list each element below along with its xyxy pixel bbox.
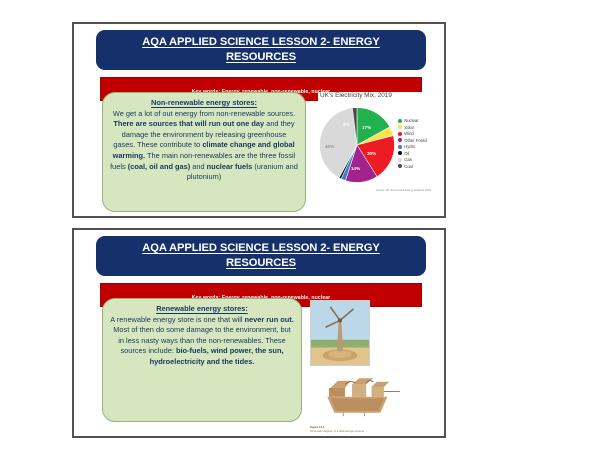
slide-1-body-heading: Non-renewable energy stores: (151, 98, 257, 107)
slide-1[interactable]: AQA APPLIED SCIENCE LESSON 2- ENERGY RES… (72, 22, 446, 218)
pie-chart: 17%20%14%2%40% (318, 106, 396, 184)
legend-label: Other Fossil (404, 138, 427, 143)
tidal-barrage-image (310, 372, 410, 418)
slide-2-content: AQA APPLIED SCIENCE LESSON 2- ENERGY RES… (74, 230, 444, 436)
slide-2-body-heading: Renewable energy stores: (156, 304, 248, 313)
slide-2-title-line-2: RESOURCES (102, 256, 420, 271)
wind-turbine-photo (310, 300, 370, 366)
electricity-mix-chart: UK's Electricity Mix, 2019 17%20%14%2%40… (318, 92, 442, 204)
slide-2-body-runs: A renewable energy store is one that wil… (110, 315, 294, 366)
slide-2[interactable]: AQA APPLIED SCIENCE LESSON 2- ENERGY RES… (72, 228, 446, 438)
tidal-barrage-diagram: Figure 14.4 Schematic diagram of a tidal… (304, 372, 414, 434)
wind-turbine-image (311, 301, 369, 365)
legend-label: Wind (404, 131, 414, 136)
slide-1-title-banner: AQA APPLIED SCIENCE LESSON 2- ENERGY RES… (96, 30, 426, 70)
legend-item-solar: Solar (398, 124, 427, 129)
document-page: AQA APPLIED SCIENCE LESSON 2- ENERGY RES… (0, 0, 604, 454)
legend-swatch-icon (398, 125, 402, 129)
legend-label: Coal (404, 164, 413, 169)
legend-swatch-icon (398, 164, 402, 168)
legend-label: Hydro (404, 144, 415, 149)
legend-swatch-icon (398, 145, 402, 149)
legend-swatch-icon (398, 138, 402, 142)
slide-1-body-runs: We get a lot of out energy from non-rene… (110, 109, 298, 182)
legend-label: Oil (404, 151, 409, 156)
legend-label: Gas (404, 157, 412, 162)
legend-item-other-fossil: Other Fossil (398, 137, 427, 142)
legend-item-nuclear: Nuclear (398, 118, 427, 123)
legend-swatch-icon (398, 132, 402, 136)
legend-swatch-icon (398, 151, 402, 155)
slide-2-title-line-1: AQA APPLIED SCIENCE LESSON 2- ENERGY (102, 241, 420, 256)
slide-2-content-box: Renewable energy stores: A renewable ene… (102, 298, 302, 422)
slide-1-content-box: Non-renewable energy stores: We get a lo… (102, 92, 306, 212)
chart-source-note: Source: UK Government Energy Statistics … (376, 189, 431, 192)
diagram-caption: Figure 14.4 Schematic diagram of a tidal… (310, 426, 384, 433)
legend-item-coal: Coal (398, 163, 427, 168)
legend-item-oil: Oil (398, 150, 427, 155)
slide-1-content: AQA APPLIED SCIENCE LESSON 2- ENERGY RES… (74, 24, 444, 216)
legend-item-gas: Gas (398, 157, 427, 162)
slide-1-title-line-1: AQA APPLIED SCIENCE LESSON 2- ENERGY (102, 35, 420, 50)
chart-title: UK's Electricity Mix, 2019 (320, 92, 392, 99)
legend-item-wind: Wind (398, 131, 427, 136)
legend-item-hydro: Hydro (398, 144, 427, 149)
legend-swatch-icon (398, 119, 402, 123)
chart-legend: NuclearSolarWindOther FossilHydroOilGasC… (398, 118, 427, 169)
slide-1-body-text: Non-renewable energy stores: We get a lo… (110, 98, 298, 183)
slide-2-body-text: Renewable energy stores: A renewable ene… (110, 304, 294, 368)
legend-label: Solar (404, 125, 414, 130)
pie-chart-svg (318, 106, 396, 184)
legend-label: Nuclear (404, 118, 418, 123)
slide-1-title-line-2: RESOURCES (102, 50, 420, 65)
diagram-caption-text: Schematic diagram of a tidal barrage sch… (310, 430, 364, 433)
slide-2-title-banner: AQA APPLIED SCIENCE LESSON 2- ENERGY RES… (96, 236, 426, 276)
legend-swatch-icon (398, 158, 402, 162)
